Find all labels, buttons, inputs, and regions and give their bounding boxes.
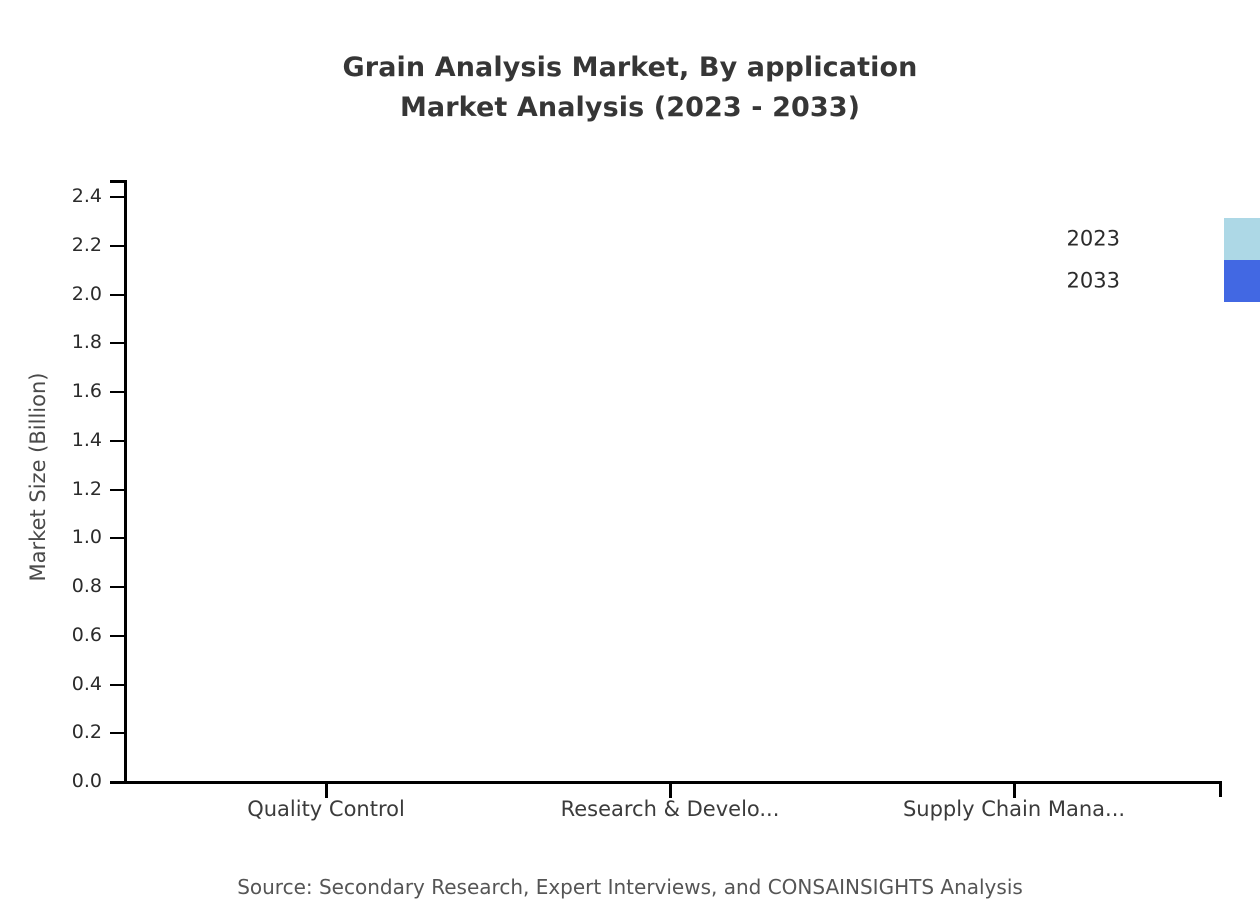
legend-label: 2023	[1030, 229, 1120, 250]
x-axis-category-label: Supply Chain Mana...	[844, 792, 1184, 826]
x-axis-category-label: Quality Control	[156, 792, 496, 826]
legend-swatch	[1224, 218, 1260, 260]
x-axis-right-cap	[1219, 781, 1222, 797]
legend-item-2023[interactable]: 2023	[1120, 218, 1260, 260]
legend-swatch	[1224, 260, 1260, 302]
legend-item-2033[interactable]: 2033	[1120, 260, 1260, 302]
source-note: Source: Secondary Research, Expert Inter…	[0, 877, 1260, 897]
chart-legend: 20232033	[1120, 218, 1260, 302]
legend-label: 2033	[1030, 271, 1120, 292]
chart-container: Grain Analysis Market, By application Ma…	[0, 0, 1260, 920]
x-axis-category-label: Research & Develo...	[500, 792, 840, 826]
bars-layer: 1.032.110.320.660.150.3	[0, 0, 1260, 782]
